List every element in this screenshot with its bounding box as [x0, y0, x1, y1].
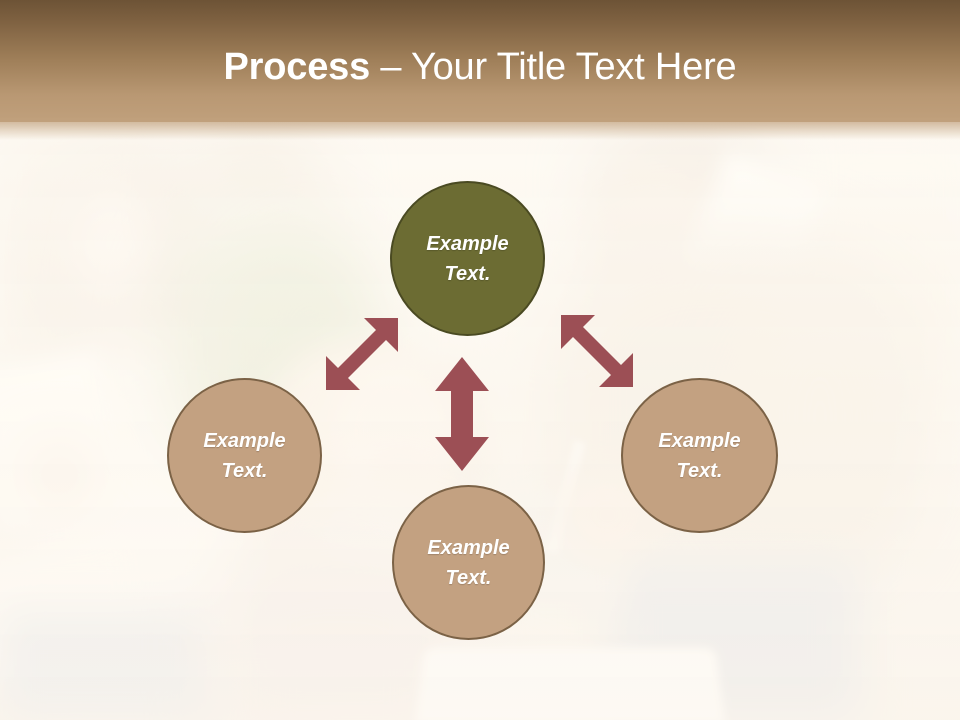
connector-top-right-arrow[interactable] [543, 297, 653, 407]
process-node-right-line1: Example [658, 426, 740, 456]
photo-person-left-hand [22, 440, 97, 510]
process-node-top-line1: Example [426, 229, 508, 259]
double-arrow-vertical-icon [432, 355, 492, 473]
photo-person-left-jeans [0, 610, 215, 720]
process-node-left[interactable]: Example Text. [167, 378, 322, 533]
page-title-emphasis: Process [224, 46, 370, 88]
photo-person-left-face [62, 182, 167, 307]
process-node-right[interactable]: Example Text. [621, 378, 778, 533]
process-node-bottom[interactable]: Example Text. [392, 485, 545, 640]
double-arrow-diagonal-mirrored-icon [543, 297, 653, 407]
page-title-rest: – Your Title Text Here [370, 46, 736, 88]
process-node-left-line1: Example [203, 426, 285, 456]
process-node-top[interactable]: Example Text. [390, 181, 545, 336]
slide-canvas: Process – Your Title Text Here Example T… [0, 0, 960, 720]
connector-top-bottom-arrow[interactable] [432, 355, 492, 473]
title-bar-fade [0, 118, 960, 140]
page-title: Process – Your Title Text Here [0, 44, 960, 90]
process-node-bottom-line2: Text. [446, 563, 492, 593]
process-node-bottom-line1: Example [427, 533, 509, 563]
photo-laptop [415, 648, 725, 720]
process-node-left-line2: Text. [222, 456, 268, 486]
double-arrow-diagonal-icon [308, 300, 418, 410]
process-node-top-line2: Text. [445, 259, 491, 289]
connector-left-top-arrow[interactable] [308, 300, 418, 410]
process-node-right-line2: Text. [677, 456, 723, 486]
